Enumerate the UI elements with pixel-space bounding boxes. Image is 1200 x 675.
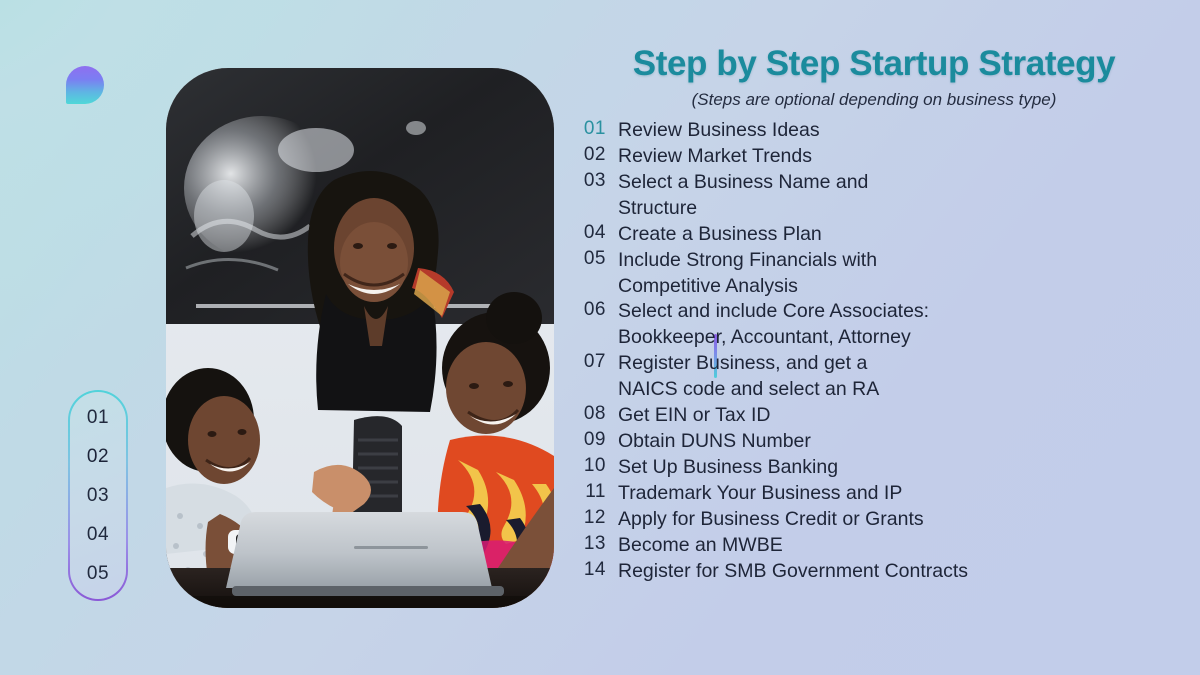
step-number: 12 [556, 507, 618, 529]
step-row[interactable]: 09Obtain DUNS Number [556, 429, 1192, 455]
slide-number-02[interactable]: 02 [75, 440, 121, 474]
slide-number-label: 05 [87, 563, 109, 585]
step-row[interactable]: 11Trademark Your Business and IP [556, 481, 1192, 507]
slide-canvas: 0102030405 [0, 0, 1200, 675]
step-label: Create a Business Plan [618, 222, 1192, 248]
step-label: Set Up Business Banking [618, 455, 1192, 481]
slide-number-label: 04 [87, 524, 109, 546]
step-label: Register Business, and get a NAICS code … [618, 351, 1192, 403]
step-label: Review Market Trends [618, 144, 1192, 170]
step-row[interactable]: 06Select and include Core Associates: Bo… [556, 299, 1192, 351]
step-number: 09 [556, 429, 618, 451]
step-number: 02 [556, 144, 618, 166]
step-label: Trademark Your Business and IP [618, 481, 1192, 507]
step-row[interactable]: 04Create a Business Plan [556, 222, 1192, 248]
step-number: 04 [556, 222, 618, 244]
step-number: 13 [556, 533, 618, 555]
slide-number-pill-inner: 0102030405 [70, 392, 126, 599]
step-number: 03 [556, 170, 618, 192]
step-row[interactable]: 12Apply for Business Credit or Grants [556, 507, 1192, 533]
step-number: 14 [556, 559, 618, 581]
step-number: 08 [556, 403, 618, 425]
slide-number-03[interactable]: 03 [75, 479, 121, 513]
step-label: Get EIN or Tax ID [618, 403, 1192, 429]
slide-number-pill[interactable]: 0102030405 [68, 390, 128, 601]
step-label: Become an MWBE [618, 533, 1192, 559]
slide-number-01[interactable]: 01 [75, 401, 121, 435]
step-row[interactable]: 05Include Strong Financials with Competi… [556, 248, 1192, 300]
page-subtitle: (Steps are optional depending on busines… [556, 90, 1192, 110]
slide-number-05[interactable]: 05 [75, 557, 121, 591]
step-label: Select and include Core Associates: Book… [618, 299, 1192, 351]
slide-number-label: 03 [87, 485, 109, 507]
step-row[interactable]: 07Register Business, and get a NAICS cod… [556, 351, 1192, 403]
step-label: Review Business Ideas [618, 118, 1192, 144]
step-row[interactable]: 08Get EIN or Tax ID [556, 403, 1192, 429]
step-number: 05 [556, 248, 618, 270]
slide-number-04[interactable]: 04 [75, 518, 121, 552]
step-row[interactable]: 14Register for SMB Government Contracts [556, 559, 1192, 585]
step-number: 10 [556, 455, 618, 477]
slide-number-label: 01 [87, 407, 109, 429]
content-column: Step by Step Startup Strategy (Steps are… [556, 44, 1192, 664]
step-row[interactable]: 03Select a Business Name and Structure [556, 170, 1192, 222]
steps-list: 01Review Business Ideas02Review Market T… [556, 118, 1192, 585]
step-label: Select a Business Name and Structure [618, 170, 1192, 222]
step-label: Include Strong Financials with Competiti… [618, 248, 1192, 300]
droplet-logo-icon [66, 66, 104, 104]
step-label: Obtain DUNS Number [618, 429, 1192, 455]
step-number: 06 [556, 299, 618, 321]
step-number: 01 [556, 118, 618, 140]
step-row[interactable]: 10Set Up Business Banking [556, 455, 1192, 481]
page-title: Step by Step Startup Strategy [556, 44, 1192, 84]
step-row[interactable]: 13Become an MWBE [556, 533, 1192, 559]
step-row[interactable]: 01Review Business Ideas [556, 118, 1192, 144]
step-number: 07 [556, 351, 618, 373]
team-collaboration-photo [166, 68, 554, 608]
slide-number-label: 02 [87, 446, 109, 468]
step-number: 11 [556, 481, 618, 503]
step-label: Apply for Business Credit or Grants [618, 507, 1192, 533]
step-row[interactable]: 02Review Market Trends [556, 144, 1192, 170]
step-label: Register for SMB Government Contracts [618, 559, 1192, 585]
